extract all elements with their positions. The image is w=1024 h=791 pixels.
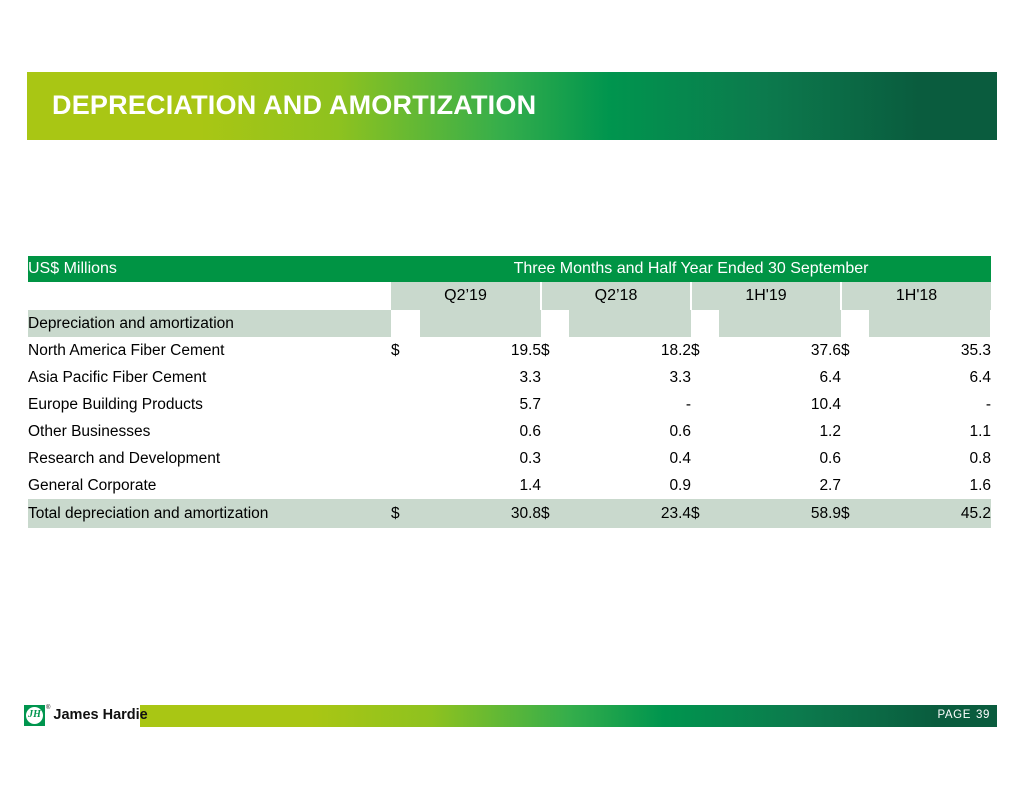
cell-value: - xyxy=(869,391,991,418)
cell-value: 3.3 xyxy=(569,364,691,391)
currency-spacer xyxy=(841,364,869,391)
currency-symbol: $ xyxy=(841,499,869,528)
section-gap-2 xyxy=(541,310,569,337)
registered-trademark-symbol: ® xyxy=(46,705,50,711)
table-section-header-row: Depreciation and amortization xyxy=(28,310,991,337)
currency-spacer xyxy=(841,445,869,472)
cell-value: 1.4 xyxy=(419,472,541,499)
column-header-q2-18: Q2’18 xyxy=(541,282,691,310)
brand-logo: JH ® James Hardie xyxy=(24,703,148,727)
cell-value: - xyxy=(569,391,691,418)
table-column-header-row: Q2’19 Q2’18 1H'19 1H'18 xyxy=(28,282,991,310)
column-header-q2-19: Q2’19 xyxy=(391,282,541,310)
cell-value: 5.7 xyxy=(419,391,541,418)
page-word: PAGE xyxy=(937,709,971,721)
cell-value: 35.3 xyxy=(869,337,991,364)
table-row: Asia Pacific Fiber Cement 3.3 3.3 6.4 6.… xyxy=(28,364,991,391)
table-row: North America Fiber Cement $ 19.5 $ 18.2… xyxy=(28,337,991,364)
currency-spacer xyxy=(691,472,719,499)
section-gap-4 xyxy=(841,310,869,337)
currency-spacer xyxy=(391,445,419,472)
currency-symbol: $ xyxy=(541,337,569,364)
period-banner-label: Three Months and Half Year Ended 30 Sept… xyxy=(391,256,991,282)
cell-value: 0.8 xyxy=(869,445,991,472)
currency-symbol: $ xyxy=(841,337,869,364)
currency-symbol: $ xyxy=(391,337,419,364)
column-header-1h-19: 1H'19 xyxy=(691,282,841,310)
brand-name: James Hardie xyxy=(53,707,147,723)
cell-value: 6.4 xyxy=(869,364,991,391)
cell-value: 0.6 xyxy=(419,418,541,445)
page-title: DEPRECIATION AND AMORTIZATION xyxy=(52,90,536,121)
cell-value: 0.3 xyxy=(419,445,541,472)
currency-symbol: $ xyxy=(541,499,569,528)
cell-value: 2.7 xyxy=(719,472,841,499)
section-pad-q2-19 xyxy=(419,310,541,337)
cell-value: 1.6 xyxy=(869,472,991,499)
currency-symbol: $ xyxy=(391,499,419,528)
currency-spacer xyxy=(391,364,419,391)
cell-value: 0.4 xyxy=(569,445,691,472)
currency-spacer xyxy=(541,445,569,472)
table-row: Research and Development 0.3 0.4 0.6 0.8 xyxy=(28,445,991,472)
row-label: Europe Building Products xyxy=(28,391,391,418)
cell-value: 18.2 xyxy=(569,337,691,364)
currency-spacer xyxy=(541,472,569,499)
row-label: Other Businesses xyxy=(28,418,391,445)
total-label: Total depreciation and amortization xyxy=(28,499,391,528)
section-gap-3 xyxy=(691,310,719,337)
currency-spacer xyxy=(541,391,569,418)
cell-value: 37.6 xyxy=(719,337,841,364)
footer-gradient-bar xyxy=(140,705,997,727)
total-value: 30.8 xyxy=(419,499,541,528)
cell-value: 1.1 xyxy=(869,418,991,445)
units-label: US$ Millions xyxy=(28,256,391,282)
cell-value: 10.4 xyxy=(719,391,841,418)
currency-spacer xyxy=(841,472,869,499)
currency-spacer xyxy=(841,391,869,418)
total-value: 58.9 xyxy=(719,499,841,528)
table-row: Other Businesses 0.6 0.6 1.2 1.1 xyxy=(28,418,991,445)
page-number: 39 xyxy=(976,709,990,721)
currency-spacer xyxy=(691,418,719,445)
cell-value: 3.3 xyxy=(419,364,541,391)
currency-spacer xyxy=(691,445,719,472)
row-label: Asia Pacific Fiber Cement xyxy=(28,364,391,391)
cell-value: 19.5 xyxy=(419,337,541,364)
currency-spacer xyxy=(541,364,569,391)
section-header-label: Depreciation and amortization xyxy=(28,310,391,337)
currency-spacer xyxy=(691,391,719,418)
cell-value: 6.4 xyxy=(719,364,841,391)
section-pad-1h-19 xyxy=(719,310,841,337)
cell-value: 0.6 xyxy=(719,445,841,472)
currency-spacer xyxy=(691,364,719,391)
currency-spacer xyxy=(841,418,869,445)
currency-symbol: $ xyxy=(691,499,719,528)
row-label: Research and Development xyxy=(28,445,391,472)
table-row: General Corporate 1.4 0.9 2.7 1.6 xyxy=(28,472,991,499)
depreciation-amortization-table: US$ Millions Three Months and Half Year … xyxy=(28,256,992,528)
table-row: Europe Building Products 5.7 - 10.4 - xyxy=(28,391,991,418)
cell-value: 1.2 xyxy=(719,418,841,445)
table-total-row: Total depreciation and amortization $ 30… xyxy=(28,499,991,528)
section-pad-q2-18 xyxy=(569,310,691,337)
total-value: 45.2 xyxy=(869,499,991,528)
cell-value: 0.9 xyxy=(569,472,691,499)
section-gap-1 xyxy=(391,310,419,337)
column-header-1h-18: 1H'18 xyxy=(841,282,991,310)
row-label: North America Fiber Cement xyxy=(28,337,391,364)
cell-value: 0.6 xyxy=(569,418,691,445)
james-hardie-logo-icon: JH xyxy=(24,705,45,726)
currency-spacer xyxy=(391,472,419,499)
logo-monogram: JH xyxy=(24,705,45,726)
currency-spacer xyxy=(541,418,569,445)
currency-spacer xyxy=(391,418,419,445)
section-pad-1h-18 xyxy=(869,310,991,337)
currency-symbol: $ xyxy=(691,337,719,364)
row-label: General Corporate xyxy=(28,472,391,499)
table-banner-row: US$ Millions Three Months and Half Year … xyxy=(28,256,991,282)
total-value: 23.4 xyxy=(569,499,691,528)
column-header-spacer xyxy=(28,282,391,310)
page-number-label: PAGE39 xyxy=(937,709,990,721)
currency-spacer xyxy=(391,391,419,418)
